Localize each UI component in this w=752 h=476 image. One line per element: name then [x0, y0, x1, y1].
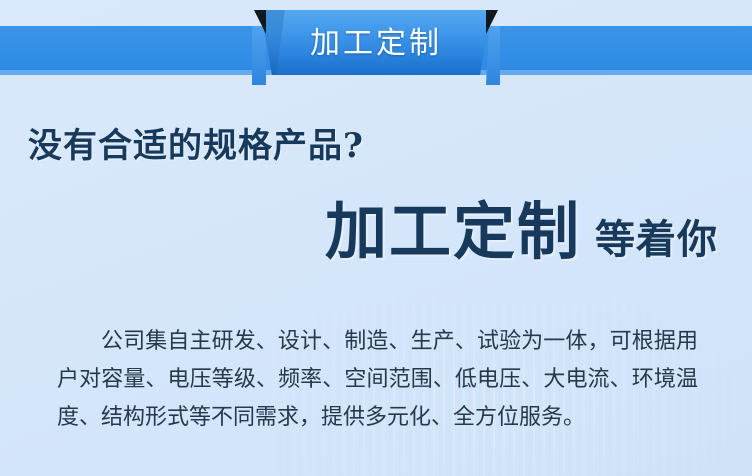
- hero-headline-sub: 等着你: [595, 204, 718, 276]
- hero-question-heading: 没有合适的规格产品?: [28, 118, 364, 167]
- section-title-ribbon: 加工定制: [252, 10, 500, 75]
- hero-headline-row: 加工定制 等着你: [0, 196, 718, 276]
- hero-headline-main: 加工定制: [325, 196, 581, 268]
- header-banner: 加工定制: [0, 0, 752, 90]
- ribbon-title-text: 加工定制: [252, 10, 500, 70]
- company-description-paragraph: 公司集自主研发、设计、制造、生产、试验为一体，可根据用户对容量、电压等级、频率、…: [57, 322, 698, 436]
- promo-page: 加工定制 没有合适的规格产品? 加工定制 等着你 公司集自主研发、设计、制造、生…: [0, 0, 752, 476]
